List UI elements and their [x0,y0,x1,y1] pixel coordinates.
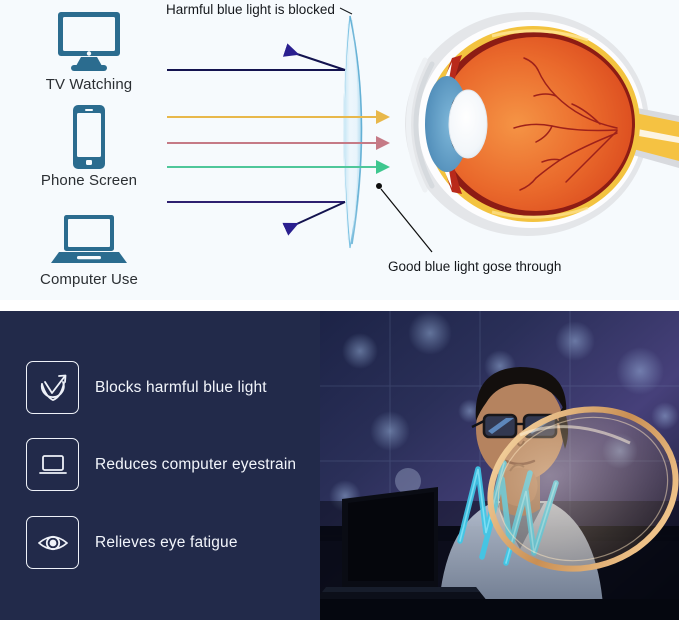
top-diagram-panel: TV Watching Phone Screen [0,0,679,300]
feature-blocks-blue-light: Blocks harmful blue light [26,361,267,414]
blocked-ray-bottom [167,202,345,228]
blocked-ray-top [167,51,345,70]
laptop-icon [26,438,79,491]
shield-check-arrow-icon [26,361,79,414]
feature-relieves-fatigue: Relieves eye fatigue [26,516,238,569]
feature-label: Blocks harmful blue light [95,379,267,397]
eye-icon [26,516,79,569]
blue-light-filter-lens [344,16,362,248]
feature-list: Blocks harmful blue light Reduces comput… [0,311,320,620]
feature-label: Reduces computer eyestrain [95,456,296,474]
caption-leader-line [376,183,432,252]
feature-label: Relieves eye fatigue [95,534,238,552]
infographic-page: TV Watching Phone Screen [0,0,679,620]
feature-reduces-eyestrain: Reduces computer eyestrain [26,438,296,491]
headline-leader-line [340,8,352,14]
eye-cross-section [405,12,679,236]
light-ray-diagram [0,0,679,300]
man-at-laptop-with-lens-photo [320,311,679,620]
